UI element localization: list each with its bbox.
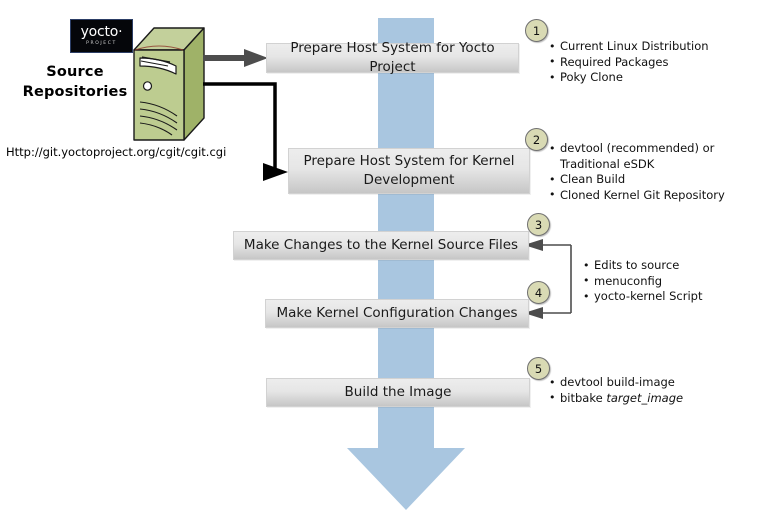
- process-box-3-label: Make Changes to the Kernel Source Files: [244, 236, 518, 255]
- step-1-bullets: Current Linux Distribution Required Pack…: [549, 39, 761, 86]
- server-tower-icon: [130, 24, 208, 146]
- process-box-2-label-line1: Prepare Host System for Kernel: [303, 152, 514, 171]
- list-item: Clean Build: [549, 172, 723, 188]
- list-item: devtool build-image: [549, 375, 749, 391]
- process-box-step-3[interactable]: Make Changes to the Kernel Source Files: [233, 231, 529, 260]
- step-number-3: 3: [527, 213, 550, 236]
- process-box-4-label: Make Kernel Configuration Changes: [276, 304, 517, 323]
- source-repo-url: Http://git.yoctoproject.org/cgit/cgit.cg…: [6, 145, 236, 159]
- process-box-step-1[interactable]: Prepare Host System for Yocto Project: [266, 43, 519, 73]
- step-number-4: 4: [527, 281, 550, 304]
- bitbake-target-image: target_image: [606, 391, 683, 405]
- step-number-2: 2: [525, 128, 548, 151]
- list-item: Current Linux Distribution: [549, 39, 761, 55]
- source-label-line1: Source: [14, 62, 136, 82]
- list-item: menuconfig: [583, 274, 758, 290]
- list-item: yocto-kernel Script: [583, 289, 758, 305]
- steps-3-4-shared-bullets: Edits to source menuconfig yocto-kernel …: [583, 258, 758, 305]
- source-repositories-label: Source Repositories: [14, 62, 136, 102]
- logo-wordmark: yocto·: [81, 26, 123, 39]
- diagram-canvas: yocto· PROJECT Source Repositories: [0, 0, 769, 517]
- step-number-3-value: 3: [535, 218, 542, 232]
- process-box-step-2[interactable]: Prepare Host System for Kernel Developme…: [288, 148, 530, 194]
- list-item: Poky Clone: [549, 70, 761, 86]
- bitbake-prefix: bitbake: [560, 391, 606, 405]
- list-item: Required Packages: [549, 55, 761, 71]
- step-number-1-value: 1: [533, 24, 540, 38]
- step-5-bullets: devtool build-image bitbake target_image: [549, 375, 749, 406]
- list-item: devtool (recommended) or Traditional eSD…: [549, 141, 723, 172]
- process-box-2-label-line2: Development: [364, 171, 455, 190]
- source-label-line2: Repositories: [14, 82, 136, 102]
- step-number-5-value: 5: [535, 362, 542, 376]
- main-flow-arrow: [330, 18, 480, 512]
- yocto-project-logo: yocto· PROJECT: [70, 19, 133, 53]
- logo-subtext: PROJECT: [86, 40, 117, 47]
- process-box-1-label: Prepare Host System for Yocto Project: [267, 39, 518, 77]
- list-item: Cloned Kernel Git Repository: [549, 188, 723, 204]
- process-box-5-label: Build the Image: [345, 383, 452, 402]
- step-number-5: 5: [527, 357, 550, 380]
- list-item: bitbake target_image: [549, 391, 749, 407]
- process-box-step-5[interactable]: Build the Image: [266, 378, 530, 407]
- step-number-4-value: 4: [535, 286, 542, 300]
- step-number-2-value: 2: [533, 133, 540, 147]
- step-number-1: 1: [525, 19, 548, 42]
- list-item: Edits to source: [583, 258, 758, 274]
- step-2-bullets: devtool (recommended) or Traditional eSD…: [549, 141, 723, 203]
- process-box-step-4[interactable]: Make Kernel Configuration Changes: [265, 299, 529, 328]
